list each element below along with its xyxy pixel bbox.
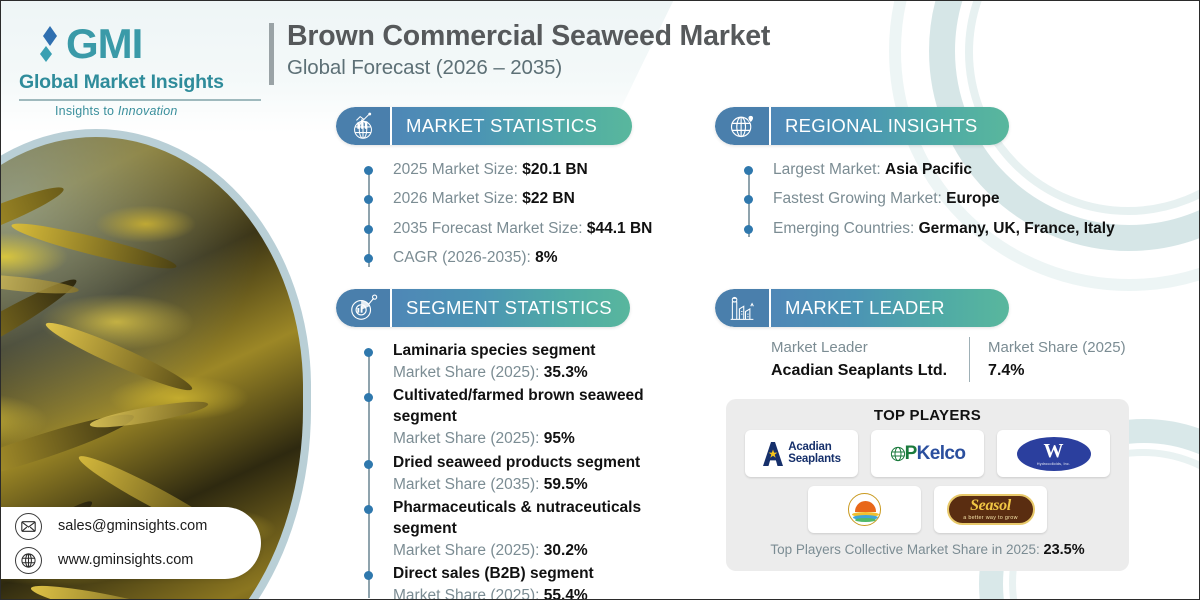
gmi-company-name: Global Market Insights — [15, 71, 265, 94]
list-item-value: 35.3% — [544, 364, 588, 381]
bullet-dot — [364, 571, 373, 580]
cpkelco-globe-icon — [890, 446, 906, 462]
market-leader-share-col: Market Share (2025) 7.4% — [969, 337, 1126, 382]
list-item-line: Market Share (2025): 30.2% — [393, 540, 683, 562]
contact-email-row[interactable]: sales@gminsights.com — [15, 513, 261, 540]
market-leader-heading: MARKET LEADER — [771, 289, 1009, 327]
list-item-line: 2035 Forecast Market Size: $44.1 BN — [393, 218, 693, 240]
list-item-value: $20.1 BN — [522, 161, 587, 178]
cpkelco-text-kelco: Kelco — [917, 443, 966, 465]
list-item: 2025 Market Size: $20.1 BN — [363, 159, 693, 181]
list-item-label: Largest Market: — [773, 161, 885, 178]
seasol-logo[interactable]: Seasol a better way to grow — [934, 486, 1047, 533]
acadian-logo-line1: Acadian — [788, 441, 831, 453]
segment-name: Dried seaweed products segment — [393, 453, 683, 474]
contact-strip: sales@gminsights.com www.gminsights.com — [0, 507, 261, 579]
list-item-label: Market Share (2035): — [393, 476, 544, 493]
top-players-footer-value: 23.5% — [1044, 542, 1085, 558]
list-item-line: Market Share (2025): 35.3% — [393, 362, 683, 384]
list-item: CAGR (2026-2035): 8% — [363, 247, 693, 269]
bullet-dot — [364, 254, 373, 263]
list-item: 2035 Forecast Market Size: $44.1 BN — [363, 218, 693, 240]
market-share-value: 7.4% — [988, 359, 1126, 382]
segment-name: Cultivated/farmed brown seaweed segment — [393, 386, 683, 428]
contact-website-row[interactable]: www.gminsights.com — [15, 547, 261, 574]
acadian-logo-line2: Seaplants — [788, 453, 841, 465]
acadian-logo-text: Acadian Seaplants — [788, 442, 841, 466]
list-item: Emerging Countries: Germany, UK, France,… — [743, 218, 1133, 240]
market-leader-body: Market Leader Acadian Seaplants Ltd. Mar… — [771, 337, 1126, 382]
market-leader-company-col: Market Leader Acadian Seaplants Ltd. — [771, 337, 969, 382]
bullet-dot — [364, 393, 373, 402]
list-item-label: 2035 Forecast Market Size: — [393, 220, 587, 237]
bullet-dot — [364, 348, 373, 357]
list-item-value: Asia Pacific — [885, 161, 972, 178]
list-item: Dried seaweed products segment Market Sh… — [363, 453, 683, 496]
bullet-dot — [744, 166, 753, 175]
bullet-dot — [744, 195, 753, 204]
list-item-line: Fastest Growing Market: Europe — [773, 188, 1133, 210]
w-logo-content: W Hydrocolloids, Inc. — [1017, 437, 1091, 471]
list-item-line: CAGR (2026-2035): 8% — [393, 247, 693, 269]
seal-sun-icon — [855, 501, 876, 512]
seasol-logo-content: Seasol a better way to grow — [947, 494, 1035, 525]
list-item-line: Market Share (2025): 95% — [393, 428, 683, 450]
list-item-line: Emerging Countries: Germany, UK, France,… — [773, 218, 1133, 240]
acadian-seaplants-logo[interactable]: Acadian Seaplants — [745, 430, 858, 477]
list-item-label: Market Share (2025): — [393, 430, 544, 447]
market-statistics-list: 2025 Market Size: $20.1 BN 2026 Market S… — [363, 159, 693, 277]
factory-icon — [715, 289, 769, 327]
list-item: 2026 Market Size: $22 BN — [363, 188, 693, 210]
bullet-dot — [364, 225, 373, 234]
list-item-label: Fastest Growing Market: — [773, 190, 946, 207]
list-item-label: Emerging Countries: — [773, 220, 919, 237]
page-title: Brown Commercial Seaweed Market — [287, 19, 770, 53]
bullet-dot — [364, 166, 373, 175]
bullet-dot — [744, 225, 753, 234]
list-item-line: 2026 Market Size: $22 BN — [393, 188, 693, 210]
market-leader-header: MARKET LEADER — [715, 289, 1009, 327]
cpkelco-letter-p: P — [905, 443, 917, 465]
regional-insights-list: Largest Market: Asia Pacific Fastest Gro… — [743, 159, 1133, 247]
segment-name: Pharmaceuticals & nutraceuticals segment — [393, 498, 683, 540]
seasol-logo-slogan: a better way to grow — [963, 515, 1018, 521]
w-logo-letter: W — [1044, 442, 1064, 461]
contact-website: www.gminsights.com — [58, 552, 193, 568]
globe-icon — [15, 547, 42, 574]
gmi-diamond-icon — [37, 24, 63, 64]
list-item-value: Europe — [946, 190, 999, 207]
list-item-value: $44.1 BN — [587, 220, 652, 237]
seal-emblem-logo[interactable] — [808, 486, 921, 533]
list-item: Direct sales (B2B) segment Market Share … — [363, 564, 683, 600]
list-item-value: $22 BN — [522, 190, 575, 207]
pie-chart-target-icon — [336, 289, 390, 327]
seasol-logo-name: Seasol — [970, 498, 1011, 514]
top-players-row-2: Seasol a better way to grow — [738, 486, 1117, 533]
list-item-line: Market Share (2025): 55.4% — [393, 585, 683, 600]
top-players-footer-label: Top Players Collective Market Share in 2… — [770, 542, 1043, 557]
segment-name: Laminaria species segment — [393, 341, 683, 362]
regional-insights-heading: REGIONAL INSIGHTS — [771, 107, 1009, 145]
list-item-value: 55.4% — [544, 587, 588, 600]
regional-insights-header: REGIONAL INSIGHTS — [715, 107, 1009, 145]
list-item-value: 8% — [535, 249, 557, 266]
list-item-label: Market Share (2025): — [393, 364, 544, 381]
top-players-panel: TOP PLAYERS Acadian Seaplants — [726, 399, 1129, 571]
list-item-line: Market Share (2035): 59.5% — [393, 474, 683, 496]
infographic-page: GMI Global Market Insights Insights to I… — [0, 0, 1200, 600]
page-title-block: Brown Commercial Seaweed Market Global F… — [269, 19, 770, 80]
gmi-logo: GMI Global Market Insights Insights to I… — [15, 23, 265, 118]
gmi-tagline-italic: Innovation — [118, 104, 178, 118]
gmi-tagline-plain: Insights to — [55, 104, 118, 118]
list-item-line: 2025 Market Size: $20.1 BN — [393, 159, 693, 181]
list-item: Largest Market: Asia Pacific — [743, 159, 1133, 181]
seal-wave-green — [855, 518, 876, 522]
segment-statistics-header: SEGMENT STATISTICS — [336, 289, 630, 327]
acadian-logo-content: Acadian Seaplants — [762, 440, 841, 468]
market-statistics-heading: MARKET STATISTICS — [392, 107, 632, 145]
market-leader-value: Acadian Seaplants Ltd. — [771, 359, 947, 382]
segment-statistics-list: Laminaria species segment Market Share (… — [363, 341, 683, 600]
gmi-logo-mark: GMI — [15, 23, 265, 65]
w-logo-subtext: Hydrocolloids, Inc. — [1037, 462, 1070, 466]
globe-pin-icon — [715, 107, 769, 145]
gmi-tagline: Insights to Innovation — [15, 104, 265, 118]
list-item-label: 2026 Market Size: — [393, 190, 522, 207]
market-share-label: Market Share (2025) — [988, 337, 1126, 359]
acadian-a-icon — [762, 440, 784, 468]
segment-statistics-heading: SEGMENT STATISTICS — [392, 289, 630, 327]
gmi-wordmark: GMI — [66, 23, 142, 65]
list-item-label: 2025 Market Size: — [393, 161, 522, 178]
top-players-row-1: Acadian Seaplants PKelco — [738, 430, 1117, 477]
list-item-label: Market Share (2025): — [393, 587, 544, 600]
list-item-label: Market Share (2025): — [393, 542, 544, 559]
segment-name: Direct sales (B2B) segment — [393, 564, 683, 585]
bullet-dot — [364, 195, 373, 204]
seal-logo-content — [848, 493, 881, 526]
market-statistics-header: MARKET STATISTICS — [336, 107, 632, 145]
list-item-value: 95% — [544, 430, 575, 447]
list-item-value: 30.2% — [544, 542, 588, 559]
list-item: Cultivated/farmed brown seaweed segment … — [363, 386, 683, 450]
list-item: Laminaria species segment Market Share (… — [363, 341, 683, 384]
title-accent-bar — [269, 23, 274, 85]
w-hydrocolloids-logo[interactable]: W Hydrocolloids, Inc. — [997, 430, 1110, 477]
list-item: Fastest Growing Market: Europe — [743, 188, 1133, 210]
bullet-dot — [364, 505, 373, 514]
list-item-label: CAGR (2026-2035): — [393, 249, 535, 266]
globe-chart-icon — [336, 107, 390, 145]
contact-email: sales@gminsights.com — [58, 518, 207, 534]
list-item-line: Largest Market: Asia Pacific — [773, 159, 1133, 181]
list-item-value: Germany, UK, France, Italy — [919, 220, 1115, 237]
bullet-dot — [364, 460, 373, 469]
market-leader-label: Market Leader — [771, 337, 947, 359]
gmi-logo-divider — [19, 99, 261, 101]
page-subtitle: Global Forecast (2026 – 2035) — [287, 56, 770, 80]
envelope-icon — [15, 513, 42, 540]
cp-kelco-logo[interactable]: PKelco — [871, 430, 984, 477]
list-item-value: 59.5% — [544, 476, 588, 493]
list-item: Pharmaceuticals & nutraceuticals segment… — [363, 498, 683, 562]
top-players-footer: Top Players Collective Market Share in 2… — [738, 542, 1117, 558]
cpkelco-logo-content: PKelco — [890, 443, 966, 465]
top-players-title: TOP PLAYERS — [738, 407, 1117, 424]
